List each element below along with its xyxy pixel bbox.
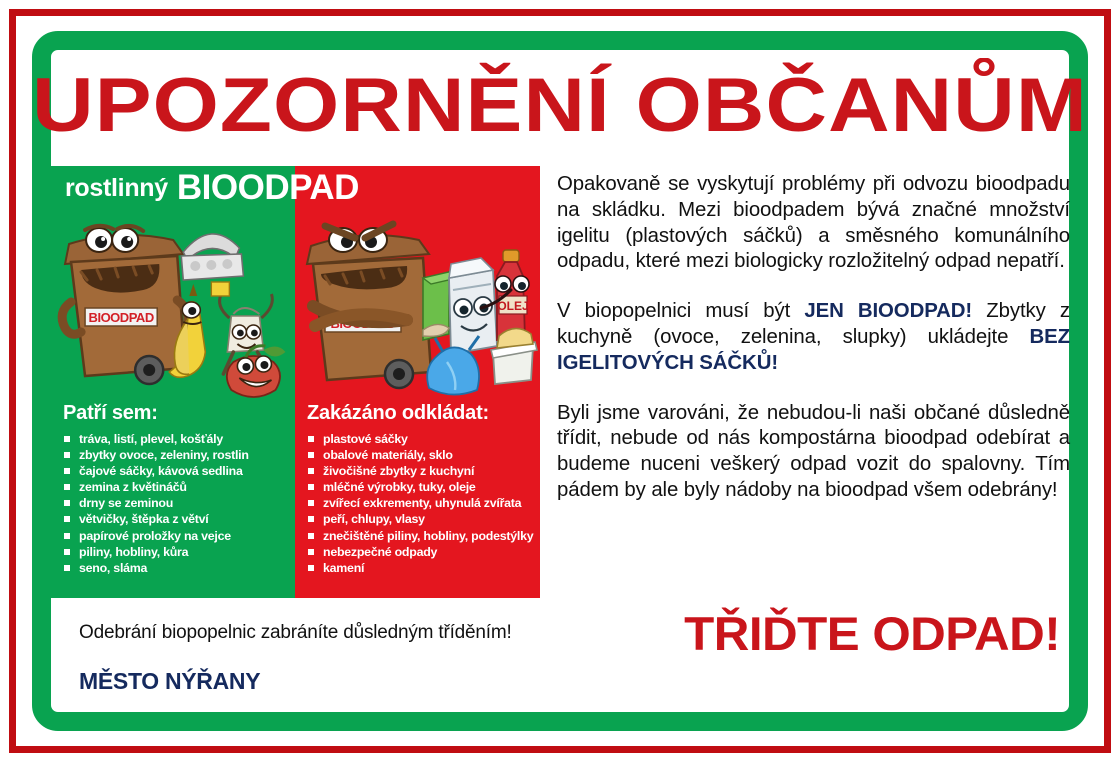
paragraph-problem: Opakovaně se vyskytují problémy při odvo… [557, 172, 1070, 275]
allowed-list-title: Patří sem: [63, 402, 288, 425]
footer-cta: TŘIĎTE ODPAD! [684, 606, 1060, 661]
list-item: čajové sáčky, kávová sedlina [63, 463, 288, 479]
list-item: znečištěné piliny, hobliny, podestýlky [307, 528, 532, 544]
content-area: rostlinný BIOODPAD [51, 166, 1070, 600]
list-item: papírové proložky na vejce [63, 528, 288, 544]
list-item: drny se zeminou [63, 495, 288, 511]
list-item: zbytky ovoce, zeleniny, rostlin [63, 447, 288, 463]
list-item: peří, chlupy, vlasy [307, 511, 532, 527]
list-item: kamení [307, 560, 532, 576]
notice-text-column: Opakovaně se vyskytují problémy při odvo… [557, 172, 1070, 504]
instruction-pre: V biopopelnici musí být [557, 300, 804, 322]
paragraph-warning: Byli jsme varováni, že nebudou-li naši o… [557, 401, 1070, 504]
list-item: zemina z květináčů [63, 479, 288, 495]
bioodpad-leaflet-image: rostlinný BIOODPAD [51, 166, 540, 598]
leaflet-header-small: rostlinný [65, 174, 168, 203]
forbidden-list-block: Zakázáno odkládat: plastové sáčky obalov… [295, 402, 540, 576]
list-item: větvičky, štěpka z větví [63, 511, 288, 527]
list-item: tráva, listí, plevel, košťály [63, 431, 288, 447]
svg-text:OLEJ: OLEJ [497, 299, 528, 313]
allowed-list-block: Patří sem: tráva, listí, plevel, košťály… [51, 402, 296, 576]
leaflet-header: rostlinný BIOODPAD [51, 166, 540, 210]
allowed-list: tráva, listí, plevel, košťály zbytky ovo… [63, 431, 288, 576]
list-item: obalové materiály, sklo [307, 447, 532, 463]
leaflet-header-big: BIOODPAD [177, 168, 359, 208]
list-item: piliny, hobliny, kůra [63, 544, 288, 560]
forbidden-list-title: Zakázáno odkládat: [307, 402, 532, 425]
list-item: plastové sáčky [307, 431, 532, 447]
paragraph-instruction: V biopopelnici musí být JEN BIOODPAD! Zb… [557, 299, 1070, 376]
footer: Odebrání biopopelnic zabráníte důsledným… [51, 612, 1070, 712]
list-item: mléčné výrobky, tuky, oleje [307, 479, 532, 495]
footer-city: MĚSTO NÝŘANY [79, 668, 260, 695]
page-title: UPOZORNĚNÍ OBČANŮM [0, 60, 1120, 152]
emphasis-jen-bioodpad: JEN BIOODPAD! [804, 300, 972, 322]
angry-bin-illustration: BIOODPAD [295, 210, 540, 402]
svg-text:BIOODPAD: BIOODPAD [89, 310, 154, 325]
footer-note: Odebrání biopopelnic zabráníte důsledným… [79, 622, 512, 644]
poster-root: UPOZORNĚNÍ OBČANŮM rostlinný BIOODPAD [0, 0, 1120, 762]
list-item: seno, sláma [63, 560, 288, 576]
forbidden-list: plastové sáčky obalové materiály, sklo ž… [307, 431, 532, 576]
list-item: zvířecí exkrementy, uhynulá zvířata [307, 495, 532, 511]
list-item: živočišné zbytky z kuchyní [307, 463, 532, 479]
list-item: nebezpečné odpady [307, 544, 532, 560]
happy-bin-illustration: BIOODPAD [51, 210, 296, 402]
